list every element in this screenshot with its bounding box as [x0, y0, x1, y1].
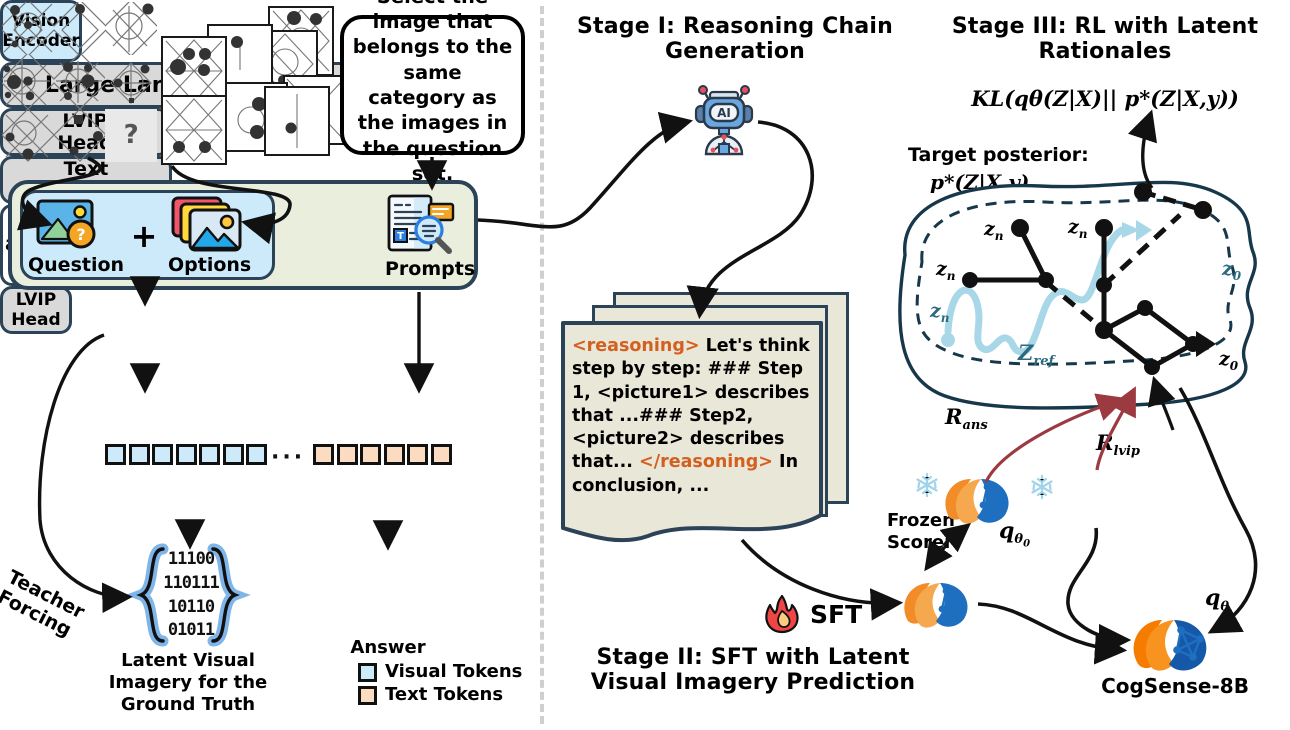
token-ellipsis: ··· [271, 445, 305, 470]
reasoning-open-tag: <reasoning> [572, 336, 700, 356]
text-token [384, 444, 405, 465]
kl-formula: KL(qθ(Z|X)|| p*(Z|X,y)) [955, 86, 1255, 111]
text-token [337, 444, 358, 465]
diagram-root: ? [0, 0, 1290, 730]
matrix-cell [105, 55, 157, 108]
panel-divider [540, 6, 544, 724]
svg-text:T: T [397, 231, 404, 242]
matrix-cell [2, 55, 54, 108]
svg-text:AI: AI [717, 106, 731, 120]
stage3-title: Stage III: RL with Latent Rationales [940, 14, 1270, 64]
prompts-label: Prompts [385, 258, 455, 280]
latent-bit-matrix: 111001101111011001011 [160, 548, 222, 643]
reward-lvip-label: Rlvip [1096, 430, 1140, 459]
matrix-question-cell: ? [105, 109, 157, 162]
text-token [431, 444, 452, 465]
reward-ans-label: Rans [945, 404, 988, 433]
stage3-lvip-head-box: LVIP Head [0, 286, 72, 334]
stage1-title: Stage I: Reasoning Chain Generation [570, 14, 900, 64]
cogsense-label: CogSense-8B [1100, 675, 1250, 697]
option-card[interactable] [264, 86, 330, 156]
token-legend: Visual Tokens Text Tokens [358, 662, 522, 705]
visual-token-swatch [358, 663, 377, 682]
target-posterior-label: Target posterior: [908, 145, 1089, 166]
matrix-cell [2, 2, 54, 55]
answer-caption: Answer [332, 638, 444, 658]
reasoning-card-text: <reasoning> Let's think step by step: ##… [572, 335, 816, 498]
z0-label-black: z0 [1219, 348, 1238, 373]
option-card[interactable] [161, 95, 227, 165]
q-theta-label: qθ [1205, 585, 1229, 614]
text-token [407, 444, 428, 465]
visual-token [129, 444, 150, 465]
text-token-swatch [358, 686, 377, 705]
zn-label-3: zn [1068, 216, 1088, 241]
reasoning-hash-1: ### [708, 359, 758, 379]
options-label: Options [168, 254, 248, 276]
matrix-cell [54, 2, 106, 55]
zn-label-1: zn [936, 258, 956, 283]
matrix-cell [54, 109, 106, 162]
text-token [313, 444, 334, 465]
latent-bit-row: 01011 [160, 619, 222, 643]
sft-label: SFT [810, 601, 862, 629]
text-token [360, 444, 381, 465]
raven-matrix-puzzle: ? [2, 2, 157, 162]
question-speech-bubble: Select the image that belongs to the sam… [340, 15, 525, 155]
matrix-placeholder: ? [124, 120, 139, 150]
reasoning-close-tag: </reasoning> [639, 452, 773, 472]
reasoning-hash-2: ### [639, 406, 689, 426]
z-ref-label: Zref [1018, 340, 1054, 369]
zn-label-2: zn [984, 218, 1004, 243]
matrix-cell [2, 109, 54, 162]
z0-label-blue: z0 [1222, 258, 1241, 283]
visual-token [105, 444, 126, 465]
visual-tokens-label: Visual Tokens [385, 662, 522, 682]
visual-token [176, 444, 197, 465]
visual-token [246, 444, 267, 465]
target-posterior-formula: p*(Z|X,y) [930, 170, 1029, 194]
question-label: Question [28, 254, 114, 276]
latent-bit-row: 10110 [160, 596, 222, 620]
text-tokens-label: Text Tokens [385, 685, 503, 705]
plus-symbol: + [129, 217, 159, 255]
visual-token [223, 444, 244, 465]
zn-label-curve: zn [930, 300, 950, 325]
latent-bit-row: 11100 [160, 548, 222, 572]
matrix-cell [105, 2, 157, 55]
visual-token [199, 444, 220, 465]
stage2-title: Stage II: SFT with Latent Visual Imagery… [558, 645, 948, 695]
visual-token [152, 444, 173, 465]
latent-imagery-caption: Latent Visual Imagery for the Ground Tru… [92, 650, 284, 716]
latent-bit-row: 110111 [160, 572, 222, 596]
svg-text:?: ? [76, 225, 85, 244]
teacher-forcing-label: Teacher Forcing [0, 566, 121, 660]
bubble-text: Select the image that belongs to the sam… [352, 0, 513, 186]
matrix-cell [54, 55, 106, 108]
